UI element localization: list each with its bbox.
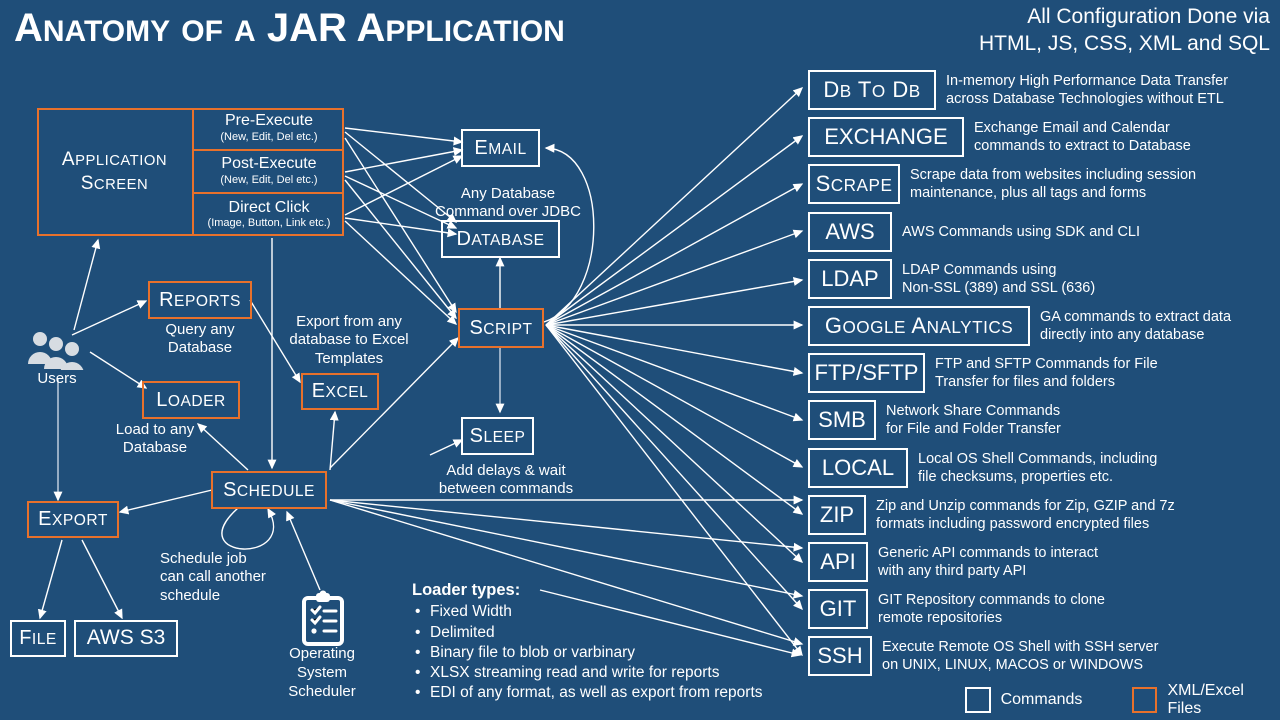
os-scheduler-label: Operating System Scheduler (272, 645, 372, 701)
command-description: GIT Repository commands to cloneremote r… (878, 591, 1105, 628)
loader-types-list: Fixed Width Delimited Binary file to blo… (412, 602, 763, 703)
legend-label-xml-excel: XML/Excel Files (1167, 682, 1280, 718)
command-description: Execute Remote OS Shell with SSH servero… (882, 638, 1158, 675)
command-box-ssh[interactable]: SSH (808, 636, 872, 676)
header-subtitle: All Configuration Done via HTML, JS, CSS… (979, 4, 1270, 58)
database-note: Any Database Command over JDBC (420, 185, 596, 222)
header-subtitle-line1: All Configuration Done via (979, 4, 1270, 31)
command-box-label: SSH (817, 643, 862, 669)
sub-box-post-execute-subtitle: (New, Edit, Del etc.) (220, 174, 317, 187)
command-box-label: FTP/SFTP (815, 360, 919, 386)
command-description: FTP and SFTP Commands for FileTransfer f… (935, 355, 1158, 392)
legend-swatch-xml-excel (1132, 687, 1158, 713)
command-description-line1: Local OS Shell Commands, including (918, 450, 1157, 468)
command-description-line2: for File and Folder Transfer (886, 420, 1061, 438)
node-aws-s3[interactable]: AWS S3 (74, 620, 178, 657)
os-scheduler-label-line2: System (272, 664, 372, 683)
users-icon (24, 330, 90, 370)
command-box-label: EXCHANGE (824, 124, 947, 150)
sleep-note-line2: between commands (422, 480, 590, 498)
clipboard-checklist-icon (300, 590, 346, 646)
node-email[interactable]: EMAIL (461, 129, 540, 167)
command-box-smb[interactable]: SMB (808, 400, 876, 440)
command-box-label: SMB (818, 407, 866, 433)
command-description-line1: Generic API commands to interact (878, 544, 1098, 562)
page-title: ANATOMY OF A JAR APPLICATION (14, 6, 565, 51)
reports-note: Query any Database (140, 321, 260, 358)
schedule-note-line1: Schedule job (160, 550, 300, 568)
list-item: Fixed Width (428, 602, 763, 622)
command-box-google-analytics[interactable]: GOOGLE ANALYTICS (808, 306, 1030, 346)
loader-types-heading: Loader types: (412, 580, 763, 601)
legend-label-commands: Commands (1001, 691, 1083, 709)
reports-note-line1: Query any (140, 321, 260, 339)
command-box-zip[interactable]: ZIP (808, 495, 866, 535)
legend: Commands XML/Excel Files (965, 682, 1280, 718)
command-description-line2: directly into any database (1040, 326, 1231, 344)
excel-note-line2: database to Excel (283, 331, 415, 349)
os-scheduler-label-line1: Operating (272, 645, 372, 664)
excel-note-line3: Templates (283, 350, 415, 368)
command-box-ftp-sftp[interactable]: FTP/SFTP (808, 353, 925, 393)
command-description: Local OS Shell Commands, includingfile c… (918, 450, 1157, 487)
command-box-label: GOOGLE ANALYTICS (825, 313, 1013, 339)
command-description-line1: LDAP Commands using (902, 261, 1095, 279)
command-box-local[interactable]: LOCAL (808, 448, 908, 488)
legend-swatch-commands (965, 687, 991, 713)
command-box-aws[interactable]: AWS (808, 212, 892, 252)
command-description: Exchange Email and Calendarcommands to e… (974, 119, 1191, 156)
sub-box-pre-execute-subtitle: (New, Edit, Del etc.) (220, 131, 317, 144)
node-aws-s3-label: AWS S3 (87, 627, 166, 649)
command-box-label: LOCAL (822, 455, 894, 481)
node-loader[interactable]: LOADER (142, 381, 240, 419)
command-description-line1: Scrape data from websites including sess… (910, 166, 1196, 184)
sub-box-pre-execute-title: Pre-Execute (225, 113, 313, 130)
command-description: Zip and Unzip commands for Zip, GZIP and… (876, 497, 1175, 534)
list-item: Binary file to blob or varbinary (428, 643, 763, 663)
command-description-line2: on UNIX, LINUX, MACOS or WINDOWS (882, 656, 1158, 674)
loader-note-line2: Database (90, 439, 220, 457)
list-item: XLSX streaming read and write for report… (428, 663, 763, 683)
command-description-line1: GA commands to extract data (1040, 308, 1231, 326)
command-box-label: AWS (825, 219, 874, 245)
node-sleep[interactable]: SLEEP (461, 417, 534, 455)
command-description-line2: with any third party API (878, 562, 1098, 580)
command-box-label: DB TO DB (823, 77, 920, 103)
reports-note-line2: Database (140, 339, 260, 357)
header-subtitle-line2: HTML, JS, CSS, XML and SQL (979, 31, 1270, 58)
command-description-line1: Exchange Email and Calendar (974, 119, 1191, 137)
list-item: EDI of any format, as well as export fro… (428, 683, 763, 703)
node-reports[interactable]: REPORTS (148, 281, 252, 319)
command-description-line1: Network Share Commands (886, 402, 1061, 420)
schedule-note-line3: schedule (160, 587, 300, 605)
sub-box-post-execute-title: Post-Execute (221, 156, 316, 173)
command-description-line1: Zip and Unzip commands for Zip, GZIP and… (876, 497, 1175, 515)
excel-note-line1: Export from any (283, 313, 415, 331)
node-excel[interactable]: EXCEL (301, 373, 379, 410)
node-database[interactable]: DATABASE (441, 220, 560, 258)
command-description-line1: In-memory High Performance Data Transfer (946, 72, 1228, 90)
command-description: LDAP Commands usingNon-SSL (389) and SSL… (902, 261, 1095, 298)
loader-note: Load to any Database (90, 421, 220, 458)
command-description: Generic API commands to interactwith any… (878, 544, 1098, 581)
loader-note-line1: Load to any (90, 421, 220, 439)
command-description: Scrape data from websites including sess… (910, 166, 1196, 203)
list-item: Delimited (428, 623, 763, 643)
database-note-line2: Command over JDBC (420, 203, 596, 221)
command-description: Network Share Commandsfor File and Folde… (886, 402, 1061, 439)
application-screen-label: APPLICATION SCREEN (37, 108, 192, 236)
diagram-canvas: ANATOMY OF A JAR APPLICATION All Configu… (0, 0, 1280, 720)
node-script[interactable]: SCRIPT (458, 308, 544, 348)
command-box-db-to-db[interactable]: DB TO DB (808, 70, 936, 110)
command-description-line2: maintenance, plus all tags and forms (910, 184, 1196, 202)
schedule-note-line2: can call another (160, 568, 300, 586)
schedule-note: Schedule job can call another schedule (160, 550, 300, 605)
sub-box-post-execute[interactable]: Post-Execute (New, Edit, Del etc.) (192, 151, 344, 194)
command-box-exchange[interactable]: EXCHANGE (808, 117, 964, 157)
command-box-label: SCRAPE (816, 171, 893, 197)
command-box-scrape[interactable]: SCRAPE (808, 164, 900, 204)
command-description-line1: AWS Commands using SDK and CLI (902, 223, 1140, 241)
sleep-note: Add delays & wait between commands (422, 462, 590, 499)
database-note-line1: Any Database (420, 185, 596, 203)
command-description-line2: across Database Technologies without ETL (946, 90, 1228, 108)
sub-box-direct-click-subtitle: (Image, Button, Link etc.) (208, 217, 331, 230)
command-description-line2: remote repositories (878, 609, 1105, 627)
sub-box-direct-click[interactable]: Direct Click (Image, Button, Link etc.) (192, 194, 344, 236)
node-schedule[interactable]: SCHEDULE (211, 471, 327, 509)
command-description-line2: formats including password encrypted fil… (876, 515, 1175, 533)
command-box-label: GIT (820, 596, 857, 622)
command-description-line2: file checksums, properties etc. (918, 468, 1157, 486)
command-box-git[interactable]: GIT (808, 589, 868, 629)
os-scheduler-label-line3: Scheduler (272, 683, 372, 702)
sub-box-direct-click-title: Direct Click (229, 200, 310, 217)
command-box-label: LDAP (821, 266, 878, 292)
command-description-line1: GIT Repository commands to clone (878, 591, 1105, 609)
command-box-api[interactable]: API (808, 542, 868, 582)
excel-note: Export from any database to Excel Templa… (283, 313, 415, 368)
command-box-ldap[interactable]: LDAP (808, 259, 892, 299)
command-description-line2: Non-SSL (389) and SSL (636) (902, 279, 1095, 297)
users-label: Users (12, 370, 102, 387)
command-description-line1: FTP and SFTP Commands for File (935, 355, 1158, 373)
command-description: GA commands to extract datadirectly into… (1040, 308, 1231, 345)
command-box-label: ZIP (820, 502, 854, 528)
node-file[interactable]: FILE (10, 620, 66, 657)
command-box-label: API (820, 549, 855, 575)
command-description: AWS Commands using SDK and CLI (902, 223, 1140, 241)
command-description: In-memory High Performance Data Transfer… (946, 72, 1228, 109)
sub-box-pre-execute[interactable]: Pre-Execute (New, Edit, Del etc.) (192, 108, 344, 151)
command-description-line2: commands to extract to Database (974, 137, 1191, 155)
node-export[interactable]: EXPORT (27, 501, 119, 538)
sleep-note-line1: Add delays & wait (422, 462, 590, 480)
loader-types-panel: Loader types: Fixed Width Delimited Bina… (412, 580, 763, 703)
command-description-line2: Transfer for files and folders (935, 373, 1158, 391)
command-description-line1: Execute Remote OS Shell with SSH server (882, 638, 1158, 656)
